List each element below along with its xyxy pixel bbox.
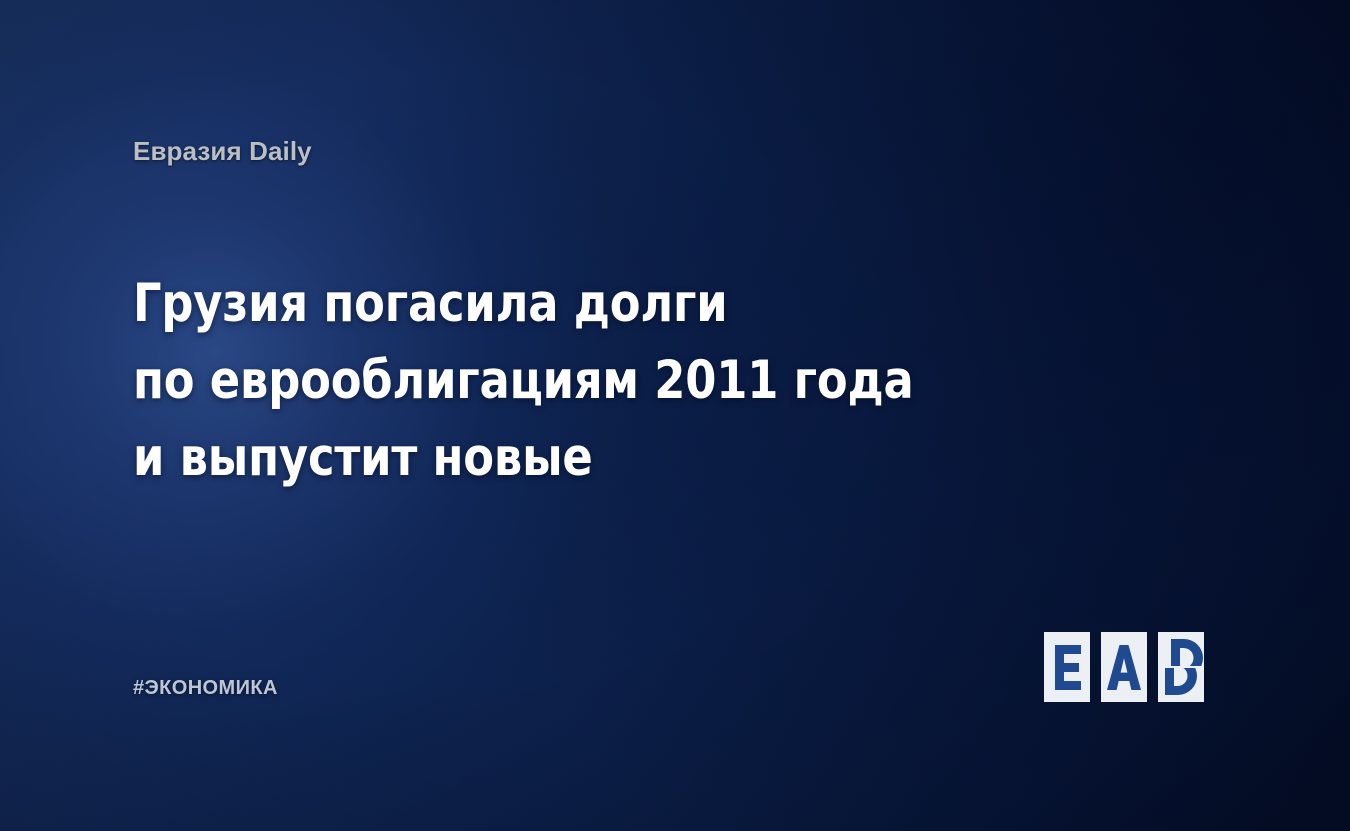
headline: Грузия погасила долги по еврооблигациям … xyxy=(133,265,1033,496)
headline-line-1: Грузия погасила долги xyxy=(133,265,979,342)
logo-tile-a xyxy=(1101,632,1147,702)
headline-line-3: и выпустит новые xyxy=(133,419,979,496)
headline-line-2: по еврооблигациям 2011 года xyxy=(133,342,979,419)
letter-d-split-icon xyxy=(1158,632,1204,702)
site-brand-wordmark: Евразия Daily xyxy=(133,136,312,167)
logo-tile-e xyxy=(1044,632,1090,702)
logo-tile-d-split xyxy=(1158,632,1204,702)
letter-e-icon xyxy=(1044,632,1090,702)
social-card: Евразия Daily Грузия погасила долги по е… xyxy=(0,0,1350,831)
ead-logo[interactable] xyxy=(1044,632,1204,702)
letter-a-icon xyxy=(1101,632,1147,702)
category-hashtag[interactable]: #ЭКОНОМИКА xyxy=(133,677,278,700)
